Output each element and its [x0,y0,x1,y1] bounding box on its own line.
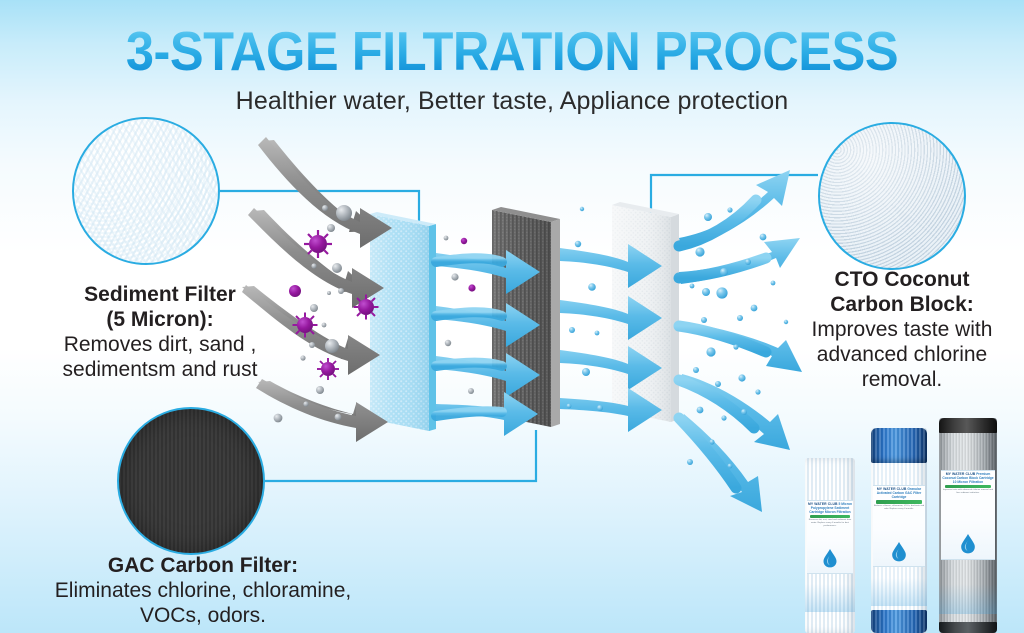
gac-media-closeup [117,407,265,555]
cartridge-pp-banner [810,515,851,518]
infographic-canvas: 3-STAGE FILTRATION PROCESS Healthier wat… [0,0,1024,633]
cartridge-cto-banner [945,485,992,488]
stage-label-sediment-heading: Sediment Filter [10,282,310,307]
cartridge-gac-banner [876,500,921,503]
cartridge-cto-top-cap [939,418,997,433]
cartridge-cto-wave [939,584,997,614]
stage-label-sediment-heading2: (5 Micron): [10,307,310,332]
water-drop-icon [822,548,838,568]
stage-label-sediment-description: Removes dirt, sand , sedimentsm and rust [63,333,258,381]
cartridge-product-group: MY WATER CLUB 5 Micron Polypropylene Sed… [793,413,1024,633]
filter-panel-sediment [370,212,436,431]
stage-label-cto-description: Improves taste with advanced chlorine re… [812,318,993,391]
stage-label-cto-heading: CTO Coconut [782,267,1022,292]
cartridge-pp-body-text: Removes dirt, rust, sand and sediment fr… [807,519,853,527]
stage-label-gac-description: Eliminates chlorine, chloramine, VOCs, o… [55,579,351,627]
cto-media-closeup [818,122,966,270]
clean-water-ribbons [679,200,766,488]
cartridge-pp-sediment: MY WATER CLUB 5 Micron Polypropylene Sed… [805,458,855,633]
cartridge-cto-label: MY WATER CLUB Premium Coconut Carbon Blo… [941,470,994,560]
cartridge-pp-wave [805,584,855,612]
stage-label-cto: CTO Coconut Carbon Block: Improves taste… [782,267,1022,392]
cartridge-cto-body-text: Improves taste with advanced chlorine re… [941,489,994,495]
water-drop-icon [890,541,907,562]
sediment-media-closeup [72,117,220,265]
stage-label-sediment: Sediment Filter (5 Micron): Removes dirt… [10,282,310,382]
cartridge-cto-bottom-cap [939,622,997,633]
cartridge-gac-top-cap [871,428,927,463]
connector-gac [265,430,536,481]
cartridge-pp-label: MY WATER CLUB 5 Micron Polypropylene Sed… [807,500,853,574]
cartridge-gac-bottom-cap [871,610,927,633]
cartridge-gac-label: MY WATER CLUB Granular Activated Carbon … [873,485,925,567]
stage-label-gac-heading: GAC Carbon Filter: [38,553,368,578]
cartridge-cto: MY WATER CLUB Premium Coconut Carbon Blo… [939,418,997,633]
cartridge-gac-body-text: Reduces chlorine, chloramine, VOCs, bad … [873,505,925,511]
cartridge-gac: MY WATER CLUB Granular Activated Carbon … [871,428,927,633]
cartridge-gac-wave [871,578,927,607]
stage-label-gac: GAC Carbon Filter: Eliminates chlorine, … [38,553,368,628]
stage-label-cto-heading2: Carbon Block: [782,292,1022,317]
water-drop-icon [959,533,976,554]
